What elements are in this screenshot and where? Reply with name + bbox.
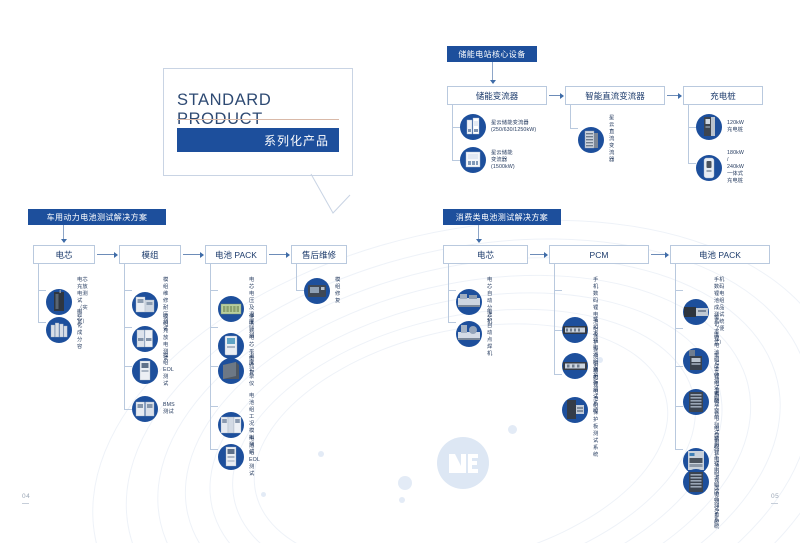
page-number-left: 04 xyxy=(22,493,30,504)
callout-divider xyxy=(177,119,339,120)
group-spine xyxy=(296,264,297,290)
group-stub xyxy=(675,290,683,291)
page-number-rule xyxy=(22,503,29,504)
group-stub xyxy=(448,290,456,291)
product-item-label: 电芯化成分容 xyxy=(77,309,82,351)
product-item[interactable]: 星云储能变流器 (1500kW) xyxy=(460,147,515,173)
decor-dot xyxy=(508,425,517,434)
section-header-energy-storage: 储能电站核心设备 xyxy=(447,46,537,62)
group-stub xyxy=(554,374,562,375)
product-item[interactable]: 温度记录仪 xyxy=(218,353,254,388)
converter-cabinet-large-icon xyxy=(460,147,486,173)
decor-dot xyxy=(398,476,412,490)
node-energy-converter[interactable]: 储能变流器 xyxy=(447,86,547,105)
product-item-label: 模组 修复 xyxy=(335,277,340,305)
page-number-right-value: 05 xyxy=(771,493,779,500)
product-item[interactable]: 星云储能变流器 (250/630/1250kW) xyxy=(460,114,536,140)
product-item[interactable]: 120kW 充电桩 xyxy=(696,114,744,140)
product-item[interactable]: 模组 修复 xyxy=(304,277,340,305)
page-number-left-value: 04 xyxy=(22,493,30,500)
decor-dot xyxy=(261,492,266,497)
page-number-right: 05 xyxy=(771,493,779,504)
header-connector-arrow xyxy=(63,225,64,242)
product-item-label: 180kW / 240kW 一体式充电桩 xyxy=(727,150,744,185)
product-item[interactable]: 星云直流变流器 xyxy=(578,115,614,164)
product-item-label: 电芯自动点焊机 xyxy=(487,309,492,358)
group-stub xyxy=(124,409,132,410)
group-stub xyxy=(124,290,132,291)
group-stub xyxy=(124,366,132,367)
group-spine xyxy=(38,264,39,322)
group-stub xyxy=(452,160,460,161)
group-spine xyxy=(554,264,555,374)
group-spine xyxy=(124,264,125,409)
node-cell[interactable]: 电芯 xyxy=(33,245,95,264)
module-eol-icon xyxy=(132,358,158,384)
group-stub xyxy=(210,327,218,328)
module-repair-icon xyxy=(304,278,330,304)
product-item-label: 小动力锂电池组 保护板测试系统 xyxy=(593,361,598,459)
product-item-label: 120kW 充电桩 xyxy=(727,120,744,134)
group-stub xyxy=(570,128,578,129)
product-item-label: 星云储能变流器 (1500kW) xyxy=(491,150,515,171)
group-stub xyxy=(448,322,456,323)
group-stub xyxy=(675,366,683,367)
group-stub xyxy=(452,127,460,128)
standard-product-callout: STANDARD PRODUCT 系列化产品 xyxy=(163,68,353,176)
product-item-label: 电池组 EOL 测试 xyxy=(249,436,260,478)
product-item-label: 动力锂电池组 充放电测试系统 xyxy=(714,436,719,527)
product-item[interactable]: 模组 EOL 测试 xyxy=(132,353,174,388)
node-cell-consumer[interactable]: 电芯 xyxy=(443,245,528,264)
group-spine xyxy=(210,264,211,449)
node-battery-pack-consumer[interactable]: 电池 PACK xyxy=(670,245,770,264)
group-spine xyxy=(452,105,453,160)
group-spine xyxy=(570,105,571,128)
group-stub xyxy=(210,366,218,367)
group-stub xyxy=(688,163,696,164)
product-item[interactable]: 电池组 EOL 测试 xyxy=(218,436,260,478)
product-item[interactable]: 180kW / 240kW 一体式充电桩 xyxy=(696,150,744,185)
decor-dot xyxy=(318,451,324,457)
group-stub xyxy=(675,406,683,407)
page-number-rule xyxy=(771,503,778,504)
pack-eol-icon xyxy=(218,444,244,470)
pack-condition-simulation-icon xyxy=(218,412,244,438)
arrow-to-charging-pile xyxy=(667,95,681,96)
cell-formation-icon xyxy=(46,317,72,343)
product-item[interactable]: BMS 测试 xyxy=(132,396,175,422)
group-stub xyxy=(554,290,562,291)
light-power-pcm-tester-icon xyxy=(562,397,588,423)
power-pack-cycler-icon xyxy=(683,469,709,495)
callout-band-label: 系列化产品 xyxy=(177,128,339,152)
arrow-to-aftersales xyxy=(269,254,289,255)
group-stub xyxy=(210,290,218,291)
group-stub xyxy=(554,330,562,331)
node-pcm[interactable]: PCM xyxy=(549,245,649,264)
brochure-page: STANDARD PRODUCT 系列化产品 储能电站核心设备 储能变流器 智能… xyxy=(0,0,800,543)
arrow-to-pcm xyxy=(530,254,547,255)
section-header-consumer-battery: 消费类电池测试解决方案 xyxy=(443,209,561,225)
group-stub xyxy=(210,449,218,450)
callout-title: STANDARD PRODUCT xyxy=(177,91,352,129)
header-connector-arrow xyxy=(478,225,479,242)
product-item-label: 温度记录仪 xyxy=(249,353,254,388)
product-item-label: 星云直流变流器 xyxy=(609,115,614,164)
node-charging-pile[interactable]: 充电桩 xyxy=(683,86,763,105)
product-item[interactable]: 小动力锂电池组 保护板测试系统 xyxy=(562,361,598,459)
group-stub xyxy=(675,328,683,329)
product-item[interactable]: 动力锂电池组 充放电测试系统 xyxy=(683,436,719,527)
charging-pile-icon xyxy=(696,114,722,140)
node-module[interactable]: 模组 xyxy=(119,245,181,264)
group-spine xyxy=(448,264,449,322)
group-stub xyxy=(38,290,46,291)
module-charge-discharge-icon xyxy=(132,326,158,352)
product-item[interactable]: 电芯自动点焊机 xyxy=(456,309,492,358)
node-after-sales[interactable]: 售后维修 xyxy=(291,245,347,264)
dc-converter-rack-icon xyxy=(578,127,604,153)
decor-dot xyxy=(399,497,405,503)
product-item-label: 星云储能变流器 (250/630/1250kW) xyxy=(491,120,536,134)
group-stub xyxy=(296,290,304,291)
arrow-to-dc-converter xyxy=(549,95,563,96)
group-stub xyxy=(688,127,696,128)
group-stub xyxy=(675,449,683,450)
section-header-ev-battery: 车用动力电池测试解决方案 xyxy=(28,209,166,225)
arrow-to-module xyxy=(97,254,117,255)
header-connector-arrow xyxy=(492,62,493,83)
node-battery-pack[interactable]: 电池 PACK xyxy=(205,245,267,264)
integrated-charging-pile-icon xyxy=(696,155,722,181)
converter-cabinet-icon xyxy=(460,114,486,140)
arrow-to-pack xyxy=(183,254,203,255)
company-watermark-logo xyxy=(437,437,489,489)
node-smart-dc-converter[interactable]: 智能直流变流器 xyxy=(565,86,665,105)
background-decoration xyxy=(0,0,800,543)
product-item-label: BMS 测试 xyxy=(163,402,175,416)
product-item[interactable]: 电芯化成分容 xyxy=(46,309,82,351)
bms-test-icon xyxy=(132,396,158,422)
cell-spot-welder-icon xyxy=(456,321,482,347)
arrow-to-pack-consumer xyxy=(651,254,668,255)
callout-tail xyxy=(310,173,354,217)
group-spine xyxy=(675,264,676,449)
group-stub xyxy=(124,327,132,328)
temperature-recorder-icon xyxy=(218,358,244,384)
group-stub xyxy=(210,406,218,407)
group-stub xyxy=(38,322,46,323)
group-spine xyxy=(688,105,689,163)
product-item-label: 模组 EOL 测试 xyxy=(163,353,174,388)
